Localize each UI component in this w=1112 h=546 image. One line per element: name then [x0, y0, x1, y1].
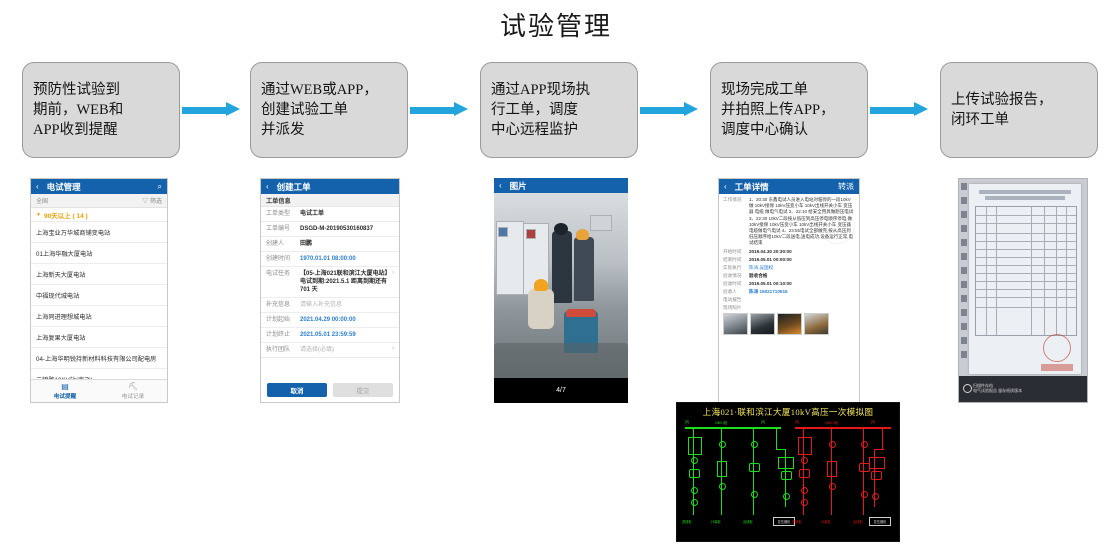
flow-step-5-label: 上传试验报告， 闭环工单: [951, 90, 1053, 130]
flow-step-4-label: 现场完成工单 并拍照上传APP， 调度中心确认: [721, 80, 835, 140]
chevron-right-icon: ›: [390, 346, 394, 352]
list-item[interactable]: 上海同进理想城电站: [31, 306, 167, 327]
field-create-time: 创建时间 1970.01.01 08:00:00: [261, 252, 399, 267]
bay-6-meter: [827, 461, 837, 477]
process-flow: 预防性试验到 期前，WEB和 APP收到提醒 通过WEB或APP， 创建试验工单…: [0, 62, 1112, 168]
flow-arrow-2: [410, 105, 470, 115]
create-button-row: 取消 提交: [261, 383, 399, 397]
back-icon[interactable]: ‹: [36, 182, 39, 191]
screenshot-test-reminder-list: ‹ 电试管理 ⌕ 全国 ▽ 筛选 ▼ 90天以上 ( 14 ) 上海宝业万华城商…: [30, 178, 168, 403]
scan-caption: 扫描件存档 电气试验报告 留存纸质版本: [973, 383, 1022, 393]
bus-2-label: 10kV II段: [825, 420, 838, 425]
page-title: 试验管理: [0, 6, 1112, 43]
report-title-line-1: [979, 190, 1071, 194]
bay-1-cell-label: 进线柜: [682, 519, 692, 524]
field-placeholder: 请输入补充信息: [300, 301, 394, 309]
bay-4-pt: [778, 457, 794, 469]
flow-arrow-4: [870, 105, 930, 115]
bay-4-switch: [783, 493, 790, 500]
list-item-label: 上海宝业万华城商铺变电站: [36, 228, 110, 237]
report-title-line-2: [985, 196, 1065, 200]
flow-step-2-label: 通过WEB或APP， 创建试验工单 并派发: [261, 80, 378, 140]
field-plan-start[interactable]: 计划起始 2021.04.29 00:00:00: [261, 313, 399, 328]
list-item[interactable]: 01上海华融大厦电站: [31, 243, 167, 264]
bay-5-breaker: [801, 457, 808, 464]
list-item-label: 上海复果大厦电站: [36, 333, 86, 342]
field-value: 电试工单: [300, 210, 394, 218]
flow-arrow-1: [182, 105, 242, 115]
flow-arrow-3: [640, 105, 700, 115]
list-item[interactable]: 上海复果大厦电站: [31, 327, 167, 348]
bay-5-ct-box: [798, 437, 812, 455]
field-label: 验收情况: [723, 273, 749, 279]
screenshot-photo-viewer: ‹ 图片 4/7: [494, 178, 628, 403]
field-value: 2019.05.01 00:10:00: [749, 281, 855, 287]
field-label: 工单编号: [266, 225, 300, 233]
scope-label[interactable]: 全国: [36, 196, 48, 205]
flow-step-5: 上传试验报告， 闭环工单: [940, 62, 1098, 158]
bay-1-switch: [691, 487, 698, 494]
field-label: 创建时间: [266, 255, 300, 263]
screenshot-scanned-report: 扫描件存档 电气试验报告 留存纸质版本: [958, 178, 1088, 403]
bay-2-meter: [717, 461, 727, 477]
field-start-time: 开始时间 2019.04.30 20:30:00: [723, 249, 855, 255]
field-value: 2019.05.01 00:00:00: [749, 257, 855, 263]
bay-8-pt: [869, 457, 885, 469]
bay-3-breaker: [751, 441, 758, 448]
bay-6-switch: [829, 483, 836, 490]
field-label: 计划起始: [266, 316, 300, 324]
field-label: 开始时间: [723, 249, 749, 255]
reminder-icon: ▤: [61, 383, 69, 391]
report-paper: [969, 184, 1081, 374]
list-item-label: 上海新天大厦电站: [36, 270, 86, 279]
detail-topbar: ‹ 工单详情 转派: [719, 179, 859, 194]
report-table: [975, 206, 1077, 336]
field-label: 创建人: [266, 240, 300, 248]
field-value: 验收合格: [749, 273, 855, 279]
list-title: 电试管理: [47, 181, 81, 193]
company-seal-icon: [1043, 334, 1071, 362]
chevron-down-icon: ▼: [36, 212, 41, 218]
field-creator: 创建人 田鹏: [261, 237, 399, 252]
list-item-label: 上海同进理想城电站: [36, 312, 92, 321]
list-topbar: ‹ 电试管理 ⌕: [31, 179, 167, 194]
field-label: 工单类型: [266, 210, 300, 218]
list-item[interactable]: 中福现代城电站: [31, 285, 167, 306]
detail-title: 工单详情: [735, 181, 769, 193]
red-stamp-text: [1041, 364, 1073, 371]
bay-3-transformer: [749, 463, 760, 472]
single-line-diagram: 上海021·联和滨江大厦10kV高压一次模拟图 [R] 10kV I段 [R] …: [676, 402, 900, 542]
field-label: 验收时间: [723, 281, 749, 287]
field-label: 现场照片: [723, 305, 749, 311]
flow-step-1-label: 预防性试验到 期前，WEB和 APP收到提醒: [33, 80, 123, 140]
list-item[interactable]: 04-上海华明锐持新材料科技有限公司配电房: [31, 348, 167, 369]
field-value: 1970.01.01 08:00:00: [300, 255, 394, 263]
field-value: 2019.04.30 20:30:00: [749, 249, 855, 255]
photo-image[interactable]: [494, 193, 628, 378]
scan-icon: [963, 384, 972, 393]
binder-spine: [961, 183, 967, 375]
bus-2-tag-right: [R]: [871, 420, 875, 424]
list-tabbar: ▤ 电试提醒 ⛏ 电试记录: [31, 379, 167, 402]
bay-5-cell-label: 进线柜: [792, 519, 802, 524]
sld-title: 上海021·联和滨江大厦10kV高压一次模拟图: [677, 406, 899, 418]
bay-8-cell-label[interactable]: 变压器柜: [869, 517, 891, 526]
bay-7-cell-label: 出线柜: [853, 519, 863, 524]
bus-1-tag-left: [R]: [685, 420, 689, 424]
create-topbar: ‹ 创建工单: [261, 179, 399, 194]
bay-8-riser: [882, 429, 883, 449]
photo-thumbnail[interactable]: [723, 313, 748, 335]
field-actual-executor: 实际执行 陈涛,吴国权: [723, 265, 855, 271]
photo-thumbnail[interactable]: [750, 313, 775, 335]
bay-8-switch: [872, 493, 879, 500]
field-value: 陈涛,吴国权: [749, 265, 855, 271]
bay-1-breaker: [691, 457, 698, 464]
bay-2-breaker: [719, 441, 726, 448]
bay-1-ct-box: [688, 437, 702, 455]
field-value: 田鹏: [300, 240, 394, 248]
field-work-order-number: 工单编号 DSGD-M-20190530160837: [261, 222, 399, 237]
bay-1-transformer: [689, 469, 700, 478]
tab-test-reminder-label: 电试提醒: [54, 392, 76, 400]
bay-2-switch: [719, 483, 726, 490]
create-title: 创建工单: [277, 181, 311, 193]
group-label: 90天以上 ( 14 ): [44, 210, 88, 220]
field-acceptor: 验收人 陈涛 15021710516: [723, 289, 855, 295]
back-icon[interactable]: ‹: [724, 182, 727, 191]
list-group-header[interactable]: ▼ 90天以上 ( 14 ): [31, 208, 167, 222]
field-label: 电试报告: [723, 297, 749, 303]
field-placeholder: 请选择(必填): [300, 346, 390, 354]
list-item-label: 04-上海华明锐持新材料科技有限公司配电房: [36, 354, 156, 363]
bay-5-switch: [801, 487, 808, 494]
bay-7-breaker: [861, 441, 868, 448]
sld-canvas: [R] 10kV I段 [R] 进线柜 计量柜 出线柜 变压器柜 [R] 10k…: [677, 419, 899, 541]
list-item-label: 01上海华融大厦电站: [36, 249, 92, 258]
field-test-report[interactable]: 电试报告: [723, 297, 855, 303]
search-icon[interactable]: ⌕: [158, 182, 162, 192]
bay-6-cell-label: 计量柜: [821, 519, 831, 524]
list-item[interactable]: 上海新天大厦电站: [31, 264, 167, 285]
filter-icon: ▽: [142, 199, 148, 205]
field-plan-end[interactable]: 计划终止 2021.05.01 23:59:59: [261, 328, 399, 343]
field-label: 结束时间: [723, 257, 749, 263]
bus-section-1: [685, 427, 781, 429]
section-header: 工单信息: [261, 194, 399, 207]
bay-2-cell-label: 计量柜: [711, 519, 721, 524]
field-site-photos: 现场照片: [723, 305, 855, 311]
tab-test-reminder[interactable]: ▤ 电试提醒: [31, 380, 99, 402]
flow-step-2: 通过WEB或APP， 创建试验工单 并派发: [250, 62, 408, 158]
tab-test-record[interactable]: ⛏ 电试记录: [99, 380, 167, 402]
photo-thumbnail[interactable]: [777, 313, 802, 335]
field-label: 工作情况: [723, 197, 749, 247]
screenshot-work-order-detail: ‹ 工单详情 转派 工作情况 1、20:30 东鑫电试人员进入电站对临停的一段1…: [718, 178, 860, 403]
field-label: 计划终止: [266, 331, 300, 339]
list-item[interactable]: 上海宝业万华城商铺变电站: [31, 222, 167, 243]
bay-8-transformer: [871, 471, 882, 480]
field-label: 电试任务: [266, 270, 300, 278]
field-value: 2021.05.01 23:59:59: [300, 331, 394, 339]
bay-8-link: [874, 449, 884, 450]
submit-button[interactable]: 提交: [333, 383, 393, 397]
tab-test-record-label: 电试记录: [122, 392, 144, 400]
bay-4-riser: [776, 429, 777, 449]
field-end-time: 结束时间 2019.05.01 00:00:00: [723, 257, 855, 263]
flow-step-3-label: 通过APP现场执 行工单，调度 中心远程监护: [491, 80, 590, 140]
bay-5-transformer: [799, 469, 810, 478]
bay-4-transformer: [781, 471, 792, 480]
field-acceptance-status: 验收情况 验收合格: [723, 273, 855, 279]
back-icon[interactable]: ‹: [266, 182, 269, 191]
field-exec-team[interactable]: 执行团队 请选择(必填) ›: [261, 343, 399, 358]
photo-thumbnail-strip: [723, 313, 855, 335]
field-test-task[interactable]: 电试任务 【05-上海021联和滨江大厦电站】电试到期:2021.5.1 距离到…: [261, 267, 399, 298]
field-extra-info[interactable]: 补充信息 请输入补充信息: [261, 298, 399, 313]
cancel-button[interactable]: 取消: [267, 383, 327, 397]
reassign-button[interactable]: 转派: [838, 181, 854, 192]
bay-3-cell-label: 出线柜: [743, 519, 753, 524]
bus-section-2: [795, 427, 891, 429]
bay-3-switch: [751, 491, 758, 498]
photo-topbar: ‹ 图片: [494, 178, 628, 193]
bay-7-switch: [861, 491, 868, 498]
bay-5-earth: [801, 499, 808, 506]
field-value: 2021.04.29 00:00:00: [300, 316, 394, 324]
list-item-label: 中福现代城电站: [36, 291, 79, 300]
bay-6-breaker: [829, 441, 836, 448]
bus-1-tag-right: [R]: [761, 420, 765, 424]
chevron-right-icon: ›: [390, 270, 394, 276]
field-label: 实际执行: [723, 265, 749, 271]
flow-step-1: 预防性试验到 期前，WEB和 APP收到提醒: [22, 62, 180, 158]
photo-counter: 4/7: [494, 378, 628, 403]
scanner-footer: 扫描件存档 电气试验报告 留存纸质版本: [959, 376, 1087, 402]
field-label: 验收人: [723, 289, 749, 295]
filter-label: 筛选: [150, 199, 162, 205]
field-work-order-type: 工单类型 电试工单: [261, 207, 399, 222]
flow-step-3: 通过APP现场执 行工单，调度 中心远程监护: [480, 62, 638, 158]
field-value: DSGD-M-20190530160837: [300, 225, 394, 233]
photo-thumbnail[interactable]: [804, 313, 829, 335]
back-icon[interactable]: ‹: [499, 181, 502, 190]
field-label: 补充信息: [266, 301, 300, 309]
field-value: 【05-上海021联和滨江大厦电站】电试到期:2021.5.1 距离到期还有 7…: [300, 270, 390, 294]
bay-1-earth: [691, 499, 698, 506]
bus-2-tag-left: [R]: [795, 420, 799, 424]
record-icon: ⛏: [128, 383, 138, 391]
filter-button[interactable]: ▽ 筛选: [142, 196, 162, 205]
field-label: 执行团队: [266, 346, 300, 354]
bus-1-label: 10kV I段: [715, 420, 727, 425]
screenshot-create-work-order: ‹ 创建工单 工单信息 工单类型 电试工单 工单编号 DSGD-M-201905…: [260, 178, 400, 403]
field-value: 陈涛 15021710516: [749, 289, 855, 295]
flow-step-4: 现场完成工单 并拍照上传APP， 调度中心确认: [710, 62, 868, 158]
field-acceptance-time: 验收时间 2019.05.01 00:10:00: [723, 281, 855, 287]
photo-title: 图片: [510, 180, 527, 192]
list-filter-row[interactable]: 全国 ▽ 筛选: [31, 194, 167, 208]
